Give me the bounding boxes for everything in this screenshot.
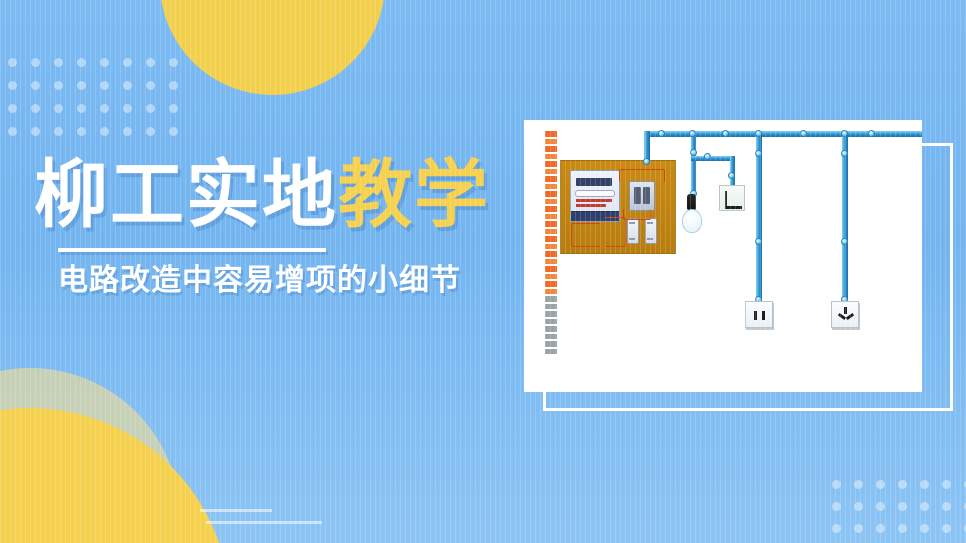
- decorative-dot: [123, 127, 132, 136]
- conduit-lamp-drop: [691, 134, 696, 194]
- decorative-dot: [123, 104, 132, 113]
- brick: [544, 130, 558, 138]
- decorative-dot: [876, 480, 885, 489]
- decorative-circle-bottom: [0, 408, 230, 543]
- poster-canvas: 柳工实地教学 电路改造中容易增项的小细节: [0, 0, 966, 543]
- fuse-left: [627, 218, 639, 244]
- conduit-node-1: [658, 130, 665, 137]
- decorative-dot: [31, 81, 40, 90]
- decorative-dot: [920, 480, 929, 489]
- brick: [544, 190, 558, 198]
- conduit-switch-drop: [730, 156, 735, 186]
- decorative-dot: [100, 127, 109, 136]
- decorative-dot: [146, 127, 155, 136]
- decorative-dot: [146, 58, 155, 67]
- accent-line-upper: [200, 509, 272, 512]
- decorative-dot: [8, 81, 17, 90]
- meter-dial: [575, 190, 615, 197]
- brick: [544, 258, 558, 266]
- circuit-breaker: [629, 181, 655, 211]
- outlet-slot-neutral: [846, 313, 854, 320]
- decorative-dot: [832, 502, 841, 511]
- decorative-dot: [854, 480, 863, 489]
- brick: [544, 333, 558, 341]
- brick: [544, 303, 558, 311]
- conduit-node-8: [755, 130, 762, 137]
- decorative-dot: [100, 58, 109, 67]
- dot-grid-bottom-right: [832, 480, 966, 543]
- conduit-outlet1-drop: [756, 134, 762, 300]
- conduit-outlet2-drop: [842, 134, 848, 300]
- conduit-node-2: [689, 130, 696, 137]
- brick: [544, 183, 558, 191]
- decorative-dot: [100, 104, 109, 113]
- decorative-circle-top: [160, 0, 385, 95]
- headline-block: 柳工实地教学 电路改造中容易增项的小细节: [34, 158, 490, 297]
- decorative-dot: [169, 81, 178, 90]
- brick: [544, 198, 558, 206]
- decorative-dot: [169, 58, 178, 67]
- brick: [544, 340, 558, 348]
- decorative-dot: [100, 81, 109, 90]
- distribution-panel-board: [560, 160, 676, 254]
- page-title-primary: 柳工实地: [34, 153, 338, 236]
- decorative-dot: [54, 58, 63, 67]
- outlet-slot-live: [838, 313, 846, 320]
- conduit-node-9: [755, 150, 762, 157]
- wiring-diagram-photo: [524, 120, 922, 392]
- brick: [544, 325, 558, 333]
- outlet-slot-left: [754, 311, 757, 320]
- decorative-dot: [832, 480, 841, 489]
- page-title-accent: 教学: [338, 153, 490, 236]
- brick: [544, 280, 558, 288]
- conduit-node-5: [728, 172, 735, 179]
- brick: [544, 145, 558, 153]
- panel-wire-1: [571, 223, 600, 247]
- decorative-dot: [169, 104, 178, 113]
- decorative-dot: [77, 81, 86, 90]
- dot-grid-top-left: [8, 58, 178, 136]
- lamp-holder: [687, 194, 696, 210]
- switch-rocker: [725, 191, 742, 209]
- conduit-node-13: [841, 130, 848, 137]
- decorative-dot: [898, 524, 907, 533]
- conduit-node-17: [868, 130, 875, 137]
- decorative-dot: [54, 104, 63, 113]
- brick: [544, 318, 558, 326]
- light-bulb: [682, 209, 702, 233]
- conduit-node-15: [841, 238, 848, 245]
- accent-line-lower: [206, 521, 322, 524]
- outlet-two-pin: [745, 301, 773, 328]
- decorative-dot: [8, 58, 17, 67]
- brick: [544, 138, 558, 146]
- brick: [544, 205, 558, 213]
- brick: [544, 228, 558, 236]
- brick: [544, 295, 558, 303]
- brick: [544, 273, 558, 281]
- conduit-node-4: [704, 153, 711, 160]
- brick: [544, 250, 558, 258]
- panel-wire-3: [619, 169, 665, 182]
- decorative-dot: [77, 127, 86, 136]
- decorative-dot: [123, 58, 132, 67]
- decorative-dot: [8, 127, 17, 136]
- fuse-right: [645, 218, 657, 244]
- decorative-dot: [832, 524, 841, 533]
- meter-display: [576, 178, 612, 186]
- decorative-dot: [920, 502, 929, 511]
- breaker-pole-right: [643, 187, 650, 204]
- brick: [544, 288, 558, 296]
- brick: [544, 235, 558, 243]
- conduit-switch-branch: [691, 156, 735, 161]
- page-title: 柳工实地教学: [34, 158, 490, 232]
- decorative-dot: [146, 81, 155, 90]
- decorative-dot: [898, 480, 907, 489]
- decorative-dot: [54, 127, 63, 136]
- conduit-main-horizontal: [644, 131, 922, 137]
- decorative-dot: [876, 524, 885, 533]
- decorative-dot: [31, 104, 40, 113]
- conduit-node-10: [755, 238, 762, 245]
- brick: [544, 265, 558, 273]
- decorative-dot: [123, 81, 132, 90]
- brick: [544, 168, 558, 176]
- decorative-dot: [920, 524, 929, 533]
- meter-label-upper: [576, 199, 612, 202]
- brick: [544, 213, 558, 221]
- decorative-dot: [942, 480, 951, 489]
- decorative-dot: [898, 502, 907, 511]
- decorative-dot: [31, 58, 40, 67]
- electric-meter: [570, 170, 620, 222]
- decorative-dot: [876, 502, 885, 511]
- decorative-dot: [31, 127, 40, 136]
- decorative-dot: [77, 58, 86, 67]
- brick: [544, 153, 558, 161]
- brick: [544, 243, 558, 251]
- title-divider: [58, 248, 326, 252]
- decorative-dot: [854, 524, 863, 533]
- brick: [544, 160, 558, 168]
- decorative-dot: [8, 104, 17, 113]
- decorative-dot: [146, 104, 155, 113]
- breaker-pole-left: [634, 187, 641, 204]
- conduit-node-panel: [643, 158, 650, 165]
- outlet-slot-ground: [844, 307, 847, 314]
- outlet-three-pin: [831, 301, 859, 328]
- decorative-dot: [169, 127, 178, 136]
- meter-label-lower: [576, 204, 606, 207]
- conduit-node-12: [800, 130, 807, 137]
- decorative-dot: [54, 81, 63, 90]
- panel-wire-2: [605, 217, 626, 247]
- conduit-node-3: [690, 149, 697, 156]
- wiring-diagram-canvas: [524, 120, 922, 392]
- conduit-node-14: [841, 150, 848, 157]
- decorative-dot: [942, 524, 951, 533]
- wall-switch: [719, 185, 745, 211]
- decorative-dot: [77, 104, 86, 113]
- brick: [544, 220, 558, 228]
- brick-wall: [544, 130, 558, 355]
- brick: [544, 310, 558, 318]
- brick: [544, 348, 558, 356]
- page-subtitle: 电路改造中容易增项的小细节: [58, 264, 490, 297]
- brick: [544, 175, 558, 183]
- decorative-dot: [942, 502, 951, 511]
- conduit-node-7: [722, 130, 729, 137]
- decorative-dot: [854, 502, 863, 511]
- panel-wire-4: [623, 209, 651, 220]
- outlet-slot-right: [762, 311, 765, 320]
